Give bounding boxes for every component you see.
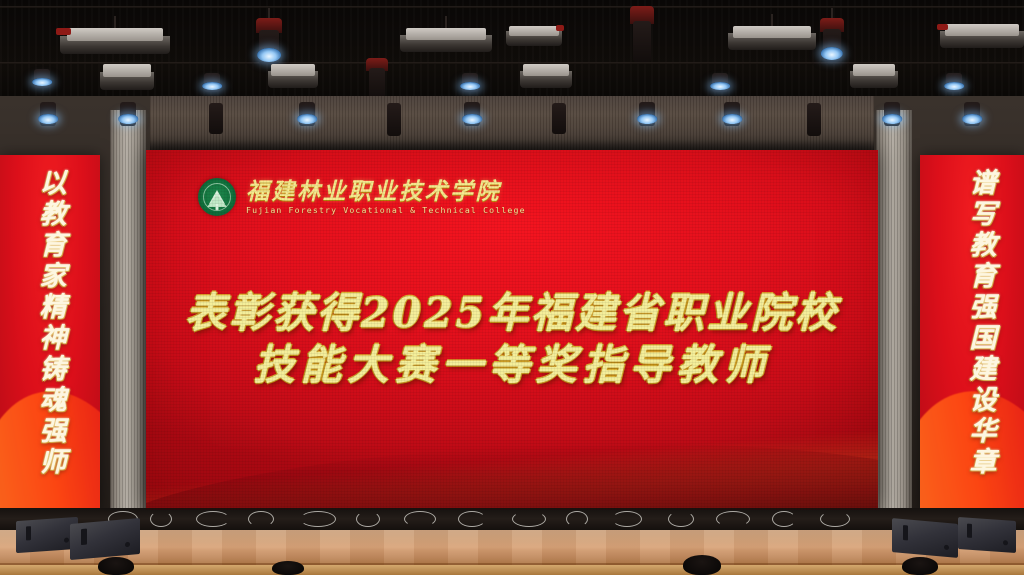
- fixture-head: [387, 103, 402, 136]
- stage-front-lip: [0, 565, 1024, 575]
- banner-char: 精: [40, 293, 67, 323]
- fixture-face: [945, 24, 1019, 36]
- par-light-fixture: [268, 62, 318, 88]
- beam-glow-icon: [202, 82, 222, 90]
- audience-head-silhouette: [272, 561, 304, 575]
- beam-light-fixture: [28, 62, 56, 88]
- left-vertical-banner: 以 教 育 家 精 神 铸 魂 强 师: [0, 155, 100, 512]
- beam-glow-icon: [637, 114, 657, 124]
- college-name-english: Fujian Forestry Vocational & Technical C…: [246, 205, 526, 215]
- stage-monitor-speaker: [892, 518, 958, 558]
- banner-char: 教: [970, 231, 997, 261]
- stage-floor: [0, 530, 1024, 575]
- squiggle-motif: [772, 511, 796, 527]
- squiggle-motif: [300, 511, 336, 527]
- hanging-moving-head: [381, 92, 407, 136]
- fixture-face: [733, 26, 810, 38]
- banner-char: 国: [970, 324, 997, 354]
- par-light-fixture: [506, 24, 562, 46]
- speaker-slot: [81, 529, 87, 545]
- beam-glow-icon: [460, 82, 480, 90]
- squiggle-motif: [196, 511, 230, 527]
- banner-char: 写: [970, 200, 997, 230]
- logo-text-block: 福建林业职业技术学院 Fujian Forestry Vocational & …: [246, 179, 526, 215]
- par-light-fixture: [400, 26, 492, 52]
- college-logo-lockup: 福建林业职业技术学院 Fujian Forestry Vocational & …: [198, 178, 526, 216]
- banner-char: 魂: [40, 386, 67, 416]
- right-banner-text: 谱 写 教 育 强 国 建 设 华 章: [920, 169, 1024, 502]
- squiggle-motif: [820, 511, 850, 527]
- main-led-screen: 福建林业职业技术学院 Fujian Forestry Vocational & …: [146, 150, 878, 510]
- ceremony-headline: 表彰获得2025年福建省职业院校 技能大赛一等奖指导教师: [146, 290, 878, 388]
- banner-char: 谱: [970, 169, 997, 199]
- hanging-moving-head: [203, 92, 229, 134]
- fixture-face: [853, 64, 895, 76]
- banner-char: 铸: [40, 355, 67, 385]
- speaker-slot: [903, 525, 908, 540]
- college-name-chinese: 福建林业职业技术学院: [246, 179, 526, 204]
- banner-char: 师: [40, 448, 67, 478]
- beam-light-fixture: [940, 66, 968, 92]
- speaker-slot: [967, 523, 972, 537]
- fixture-head: [209, 103, 224, 134]
- banner-char: 章: [970, 448, 997, 478]
- stage-monitor-speaker: [16, 517, 78, 553]
- banner-char: 强: [970, 293, 997, 323]
- fixture-head: [633, 21, 651, 62]
- hanging-moving-head: [801, 92, 827, 136]
- hanging-moving-head: [633, 94, 661, 126]
- squiggle-motif: [458, 511, 486, 527]
- hanging-moving-head: [958, 94, 986, 126]
- speaker-dot: [125, 542, 130, 547]
- right-vertical-banner: 谱 写 教 育 强 国 建 设 华 章: [920, 155, 1024, 512]
- beam-light-fixture: [456, 66, 484, 92]
- beam-glow-icon: [882, 114, 902, 124]
- fixture-face: [271, 64, 315, 76]
- banner-char: 华: [970, 417, 997, 447]
- fixture-red-tab: [56, 28, 71, 35]
- hanging-moving-head: [293, 94, 321, 126]
- beam-glow-icon: [944, 82, 964, 90]
- banner-char: 育: [40, 231, 67, 261]
- banner-char: 神: [40, 324, 67, 354]
- moving-head-fixture: [626, 6, 658, 62]
- par-light-fixture: [728, 24, 816, 50]
- fixture-red-tab: [937, 24, 949, 31]
- beam-light-fixture: [706, 66, 734, 92]
- hanging-moving-head: [34, 94, 62, 126]
- fixture-face: [103, 64, 151, 77]
- par-light-fixture: [100, 62, 154, 90]
- squiggle-motif: [668, 511, 694, 527]
- audience-head-silhouette: [902, 557, 938, 575]
- beam-glow-icon: [710, 82, 730, 90]
- hanging-moving-head: [458, 94, 486, 126]
- hang-clamp-icon: [771, 14, 773, 26]
- squiggle-motif: [404, 511, 436, 527]
- beam-glow-icon: [32, 78, 52, 86]
- stage-monitor-speaker: [958, 517, 1016, 553]
- support-column-right: [876, 110, 912, 546]
- fixture-face: [509, 26, 558, 36]
- banner-char: 设: [970, 386, 997, 416]
- banner-char: 育: [970, 262, 997, 292]
- speaker-dot: [1003, 540, 1008, 545]
- squiggle-motif: [248, 511, 274, 527]
- squiggle-motif: [566, 511, 588, 527]
- audience-head-silhouette: [98, 557, 134, 575]
- fixture-face: [523, 64, 569, 76]
- squiggle-motif: [612, 511, 642, 527]
- banner-char: 建: [970, 355, 997, 385]
- speaker-dot: [944, 544, 949, 549]
- stage-decorative-band: [0, 508, 1024, 532]
- par-light-fixture: [940, 22, 1024, 48]
- headline-line-2: 技能大赛一等奖指导教师: [254, 342, 771, 388]
- hang-clamp-icon: [114, 16, 116, 28]
- beam-glow-icon: [962, 114, 982, 124]
- banner-char: 教: [40, 200, 67, 230]
- fixture-head: [807, 103, 822, 136]
- stage-scene: 以 教 育 家 精 神 铸 魂 强 师 谱 写 教 育 强 国 建 设 华 章: [0, 0, 1024, 575]
- fixture-head: [552, 103, 567, 134]
- fixture-face: [406, 28, 487, 40]
- hanging-moving-head: [878, 94, 906, 126]
- stage-monitor-speaker: [70, 518, 140, 560]
- beam-glow-icon: [118, 114, 138, 124]
- banner-char: 家: [40, 262, 67, 292]
- banner-char: 强: [40, 417, 67, 447]
- left-banner-text: 以 教 育 家 精 神 铸 魂 强 师: [0, 169, 100, 502]
- truss-bar-upper: [0, 6, 1024, 8]
- speaker-dot: [64, 537, 69, 542]
- par-light-fixture: [520, 62, 572, 88]
- beam-glow-icon: [462, 114, 482, 124]
- beam-glow-icon: [297, 114, 317, 124]
- squiggle-motif: [512, 511, 546, 527]
- fixture-red-tab: [556, 25, 564, 31]
- hanging-moving-head: [114, 94, 142, 126]
- hang-clamp-icon: [445, 16, 447, 28]
- headline-line-1: 表彰获得2025年福建省职业院校: [185, 290, 839, 336]
- beam-glow-icon: [38, 114, 58, 124]
- moving-head-fixture: [252, 18, 286, 64]
- beam-glow-icon: [257, 48, 281, 62]
- college-emblem-icon: [198, 178, 236, 216]
- hanging-moving-head: [718, 94, 746, 126]
- speaker-slot: [26, 526, 31, 540]
- fixture-face: [67, 28, 164, 41]
- support-column-left: [110, 110, 146, 546]
- banner-char: 以: [40, 169, 67, 199]
- tree-trunk-icon: [216, 204, 219, 210]
- beam-glow-icon: [722, 114, 742, 124]
- par-light-fixture: [850, 62, 898, 88]
- beam-light-fixture: [198, 66, 226, 92]
- moving-head-fixture: [816, 18, 848, 62]
- par-light-fixture: [60, 26, 170, 54]
- squiggle-motif: [150, 511, 172, 527]
- squiggle-motif: [716, 511, 750, 527]
- audience-head-silhouette: [683, 555, 721, 575]
- hanging-moving-head: [546, 92, 572, 134]
- squiggle-motif: [356, 511, 380, 527]
